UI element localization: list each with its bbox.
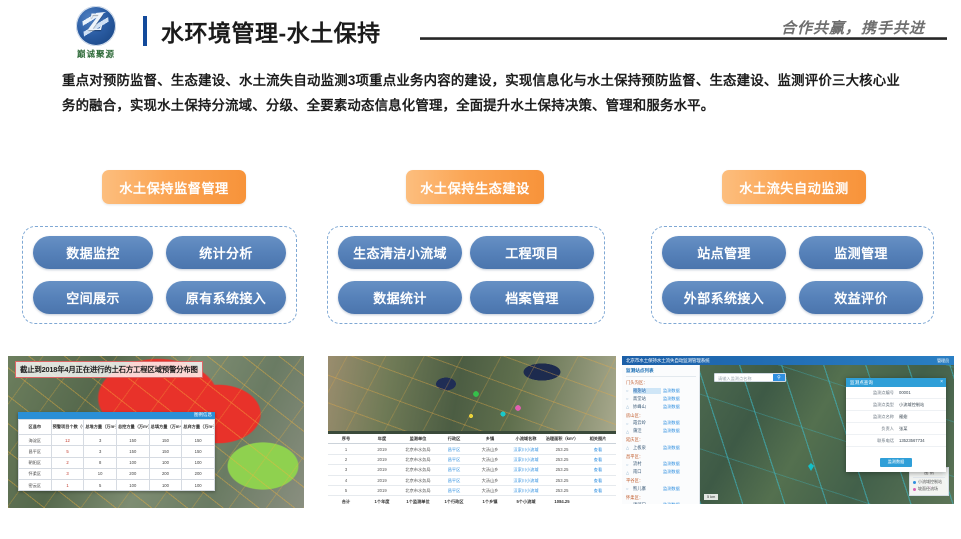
- table-column-header: 区县市: [19, 420, 52, 435]
- station-name[interactable]: 雁翅站: [633, 388, 661, 394]
- table-row: 怀柔区310200200200: [19, 468, 215, 479]
- legend-color-swatch: [913, 488, 916, 491]
- feature-group-supervision: 数据监控 统计分析 空间展示 原有系统接入: [22, 226, 297, 324]
- table-cell: 100: [149, 457, 182, 468]
- table-cell: 2019: [364, 486, 400, 496]
- station-monitoring-data-link[interactable]: 监测数据: [663, 428, 680, 434]
- sidebar-group-label: 房山区：: [626, 413, 696, 419]
- sidebar-station-item[interactable]: △南口监测数据: [626, 469, 696, 475]
- table-column-header: 总弃方量（万m³）: [182, 420, 215, 435]
- table-cell: 200: [182, 468, 215, 479]
- table-cell[interactable]: 昌平区: [436, 444, 472, 454]
- table-row: 12019北京市水务局昌平区大汤山乡汉家川小流域253.25查看: [328, 444, 616, 454]
- table-cell: 北京市水务局: [400, 475, 436, 485]
- legend-label: 小流域控制站: [918, 479, 942, 485]
- station-monitoring-data-link[interactable]: 监测数据: [663, 396, 680, 402]
- table-row: 昌平区53150150150: [19, 446, 215, 457]
- dialog-header: 监测点查询 ×: [846, 378, 946, 387]
- dialog-field-value: 雁翅: [894, 414, 940, 420]
- sidebar-group-label: 怀柔区：: [626, 495, 696, 501]
- table-cell: 5: [84, 480, 117, 491]
- feature-button-statistics[interactable]: 统计分析: [166, 236, 286, 269]
- dialog-field-label: 负责人: [852, 426, 894, 432]
- table-column-header: 总堆方量（万m³）: [84, 420, 117, 435]
- table-cell: 2019: [364, 475, 400, 485]
- table-cell[interactable]: 昌平区: [436, 475, 472, 485]
- table-column-header: 相关图片: [580, 434, 616, 444]
- station-monitoring-data-link[interactable]: 监测数据: [663, 486, 680, 492]
- table-cell: 1084.25: [544, 496, 580, 504]
- station-monitoring-data-link[interactable]: 监测数据: [663, 469, 680, 475]
- table-cell: 1个监测单位: [400, 496, 436, 504]
- table-cell: 朝阳区: [19, 457, 52, 468]
- dialog-monitoring-data-button[interactable]: 监测数据: [880, 458, 913, 467]
- station-name[interactable]: 汤河口: [633, 502, 661, 504]
- station-query-dialog[interactable]: 监测点查询 × 监测点编号00001监测点类型小流域控制站监测点名称雁翅负责人张…: [846, 378, 946, 472]
- feature-group-ecology: 生态清洁小流域 工程项目 数据统计 档案管理: [327, 226, 605, 324]
- table-cell: 1个乡镇: [472, 496, 508, 504]
- table-cell: 大汤山乡: [472, 444, 508, 454]
- screenshot-strip: 截止到2018年4月正在进行的土石方工程区域预警分布图 图例信息 区县市预警项目…: [0, 356, 961, 539]
- station-type-icon: ○: [626, 421, 631, 426]
- table-cell: 253.25: [544, 465, 580, 475]
- station-name[interactable]: 霞云岭: [633, 420, 661, 426]
- table-header-row: 区县市预警项目个数（个）总堆方量（万m³）总挖方量（万m³）总填方量（万m³）总…: [19, 420, 215, 435]
- dialog-field-value: 张某: [894, 426, 940, 432]
- table-cell: 8: [84, 457, 117, 468]
- feature-button-station-management[interactable]: 站点管理: [662, 236, 786, 269]
- dialog-field-label: 监测点名称: [852, 414, 894, 420]
- page-title: 水环境管理-水土保持: [161, 14, 381, 48]
- table-row: 52019北京市水务局昌平区大汤山乡汉家川小流域253.25查看: [328, 486, 616, 496]
- table-total-row: 合计1个年度1个监测单位1个行政区1个乡镇5个小流域1084.25: [328, 496, 616, 504]
- table-cell: 5个小流域: [508, 496, 544, 504]
- station-type-icon: △: [626, 404, 631, 409]
- table-cell: 253.25: [544, 444, 580, 454]
- table-cell: 1个行政区: [436, 496, 472, 504]
- sidebar-station-item[interactable]: ○斋堂站监测数据: [626, 396, 696, 402]
- station-name[interactable]: 流村: [633, 461, 661, 467]
- table-cell: 北京市水务局: [400, 454, 436, 464]
- table-column-header: 监测单位: [400, 434, 436, 444]
- table-cell: 大汤山乡: [472, 486, 508, 496]
- table-cell: 1: [328, 444, 364, 454]
- table-cell: 100: [182, 480, 215, 491]
- table-cell: 100: [116, 480, 149, 491]
- dialog-field-value: 00001: [894, 390, 940, 396]
- station-name[interactable]: 蒲洼: [633, 428, 661, 434]
- warning-statistics-table: 区县市预警项目个数（个）总堆方量（万m³）总挖方量（万m³）总填方量（万m³）总…: [18, 419, 215, 491]
- watershed-list-table: 序号年度监测单位行政区乡镇小流域名称治理面积（km²）相关图片 12019北京市…: [328, 434, 616, 504]
- map-scale-bar: 5 km: [704, 494, 718, 500]
- legend-color-swatch: [913, 481, 916, 484]
- dialog-field-row: 联系电话13523567734: [846, 435, 946, 447]
- feature-button-spatial-display[interactable]: 空间展示: [33, 281, 153, 314]
- legend-label: 坡面径流场: [918, 486, 938, 492]
- feature-button-monitoring-management[interactable]: 监测管理: [799, 236, 923, 269]
- dialog-field-label: 监测点编号: [852, 390, 894, 396]
- panel-title-bar: 图例信息: [18, 412, 215, 419]
- station-name[interactable]: 南口: [633, 469, 661, 475]
- feature-button-data-monitor[interactable]: 数据监控: [33, 236, 153, 269]
- station-monitoring-data-link[interactable]: 监测数据: [663, 388, 680, 394]
- table-cell: 大汤山乡: [472, 454, 508, 464]
- screenshot-earthwork-warning-map: 截止到2018年4月正在进行的土石方工程区域预警分布图 图例信息 区县市预警项目…: [8, 356, 304, 508]
- table-cell: 253.25: [544, 454, 580, 464]
- sidebar-station-item[interactable]: ○熊儿寨监测数据: [626, 486, 696, 492]
- dialog-field-label: 监测点类型: [852, 402, 894, 408]
- watershed-list-panel: 序号年度监测单位行政区乡镇小流域名称治理面积（km²）相关图片 12019北京市…: [328, 434, 616, 504]
- app-title-bar: 北京市水土保持水土流失自动监测管理系统 管理员: [622, 356, 954, 365]
- table-cell: 海淀区: [19, 435, 52, 446]
- category-title-supervision[interactable]: 水土保持监督管理: [102, 170, 246, 204]
- table-cell: 1个年度: [364, 496, 400, 504]
- table-cell: 大汤山乡: [472, 465, 508, 475]
- slide-page: 巅诚聚源 水环境管理-水土保持 合作共赢，携手共进 重点对预防监督、生态建设、水…: [0, 0, 961, 539]
- search-icon[interactable]: ⚲: [773, 374, 785, 381]
- station-name[interactable]: 熊儿寨: [633, 486, 661, 492]
- table-cell[interactable]: 汉家川小流域: [508, 454, 544, 464]
- table-cell[interactable]: 汉家川小流域: [508, 465, 544, 475]
- map-station-marker-icon[interactable]: [808, 463, 814, 471]
- warning-statistics-panel: 图例信息 区县市预警项目个数（个）总堆方量（万m³）总挖方量（万m³）总填方量（…: [18, 412, 215, 491]
- station-name[interactable]: 上板泉: [633, 445, 661, 451]
- gis-application: 北京市水土保持水土流失自动监测管理系统 管理员 监测站点列表 门头沟区：○雁翅站…: [622, 356, 954, 504]
- category-pill-row: 水土保持监督管理 水土保持生态建设 水土流失自动监测: [0, 170, 961, 206]
- sidebar-station-item[interactable]: △汤河口监测数据: [626, 502, 696, 504]
- dialog-field-row: 监测点编号00001: [846, 387, 946, 399]
- table-cell: 北京市水务局: [400, 444, 436, 454]
- feature-button-archive-management[interactable]: 档案管理: [470, 281, 594, 314]
- screenshot-monitoring-gis-app: 北京市水土保持水土流失自动监测管理系统 管理员 监测站点列表 门头沟区：○雁翅站…: [622, 356, 954, 504]
- station-type-icon: ○: [626, 462, 631, 467]
- table-cell: 4: [328, 475, 364, 485]
- sidebar-station-item[interactable]: ○流村监测数据: [626, 461, 696, 467]
- company-logo: 巅诚聚源: [48, 6, 144, 60]
- table-cell[interactable]: 汉家川小流域: [508, 444, 544, 454]
- station-search-input[interactable]: 请输入监测点名称 ⚲: [714, 373, 786, 382]
- table-column-header: 总填方量（万m³）: [149, 420, 182, 435]
- table-cell: 密云区: [19, 480, 52, 491]
- station-type-icon: △: [626, 429, 631, 434]
- table-cell: 2019: [364, 444, 400, 454]
- sidebar-station-item[interactable]: △上板泉监测数据: [626, 445, 696, 451]
- station-name[interactable]: 斋堂站: [633, 396, 661, 402]
- table-cell: 昌平区: [19, 446, 52, 457]
- sidebar-group-label: 门头沟区：: [626, 380, 696, 386]
- table-cell[interactable]: 昌平区: [436, 454, 472, 464]
- table-row: 密云区15100100100: [19, 480, 215, 491]
- table-cell: 3: [328, 465, 364, 475]
- table-cell[interactable]: 查看: [580, 465, 616, 475]
- header-slogan: 合作共赢，携手共进: [781, 17, 925, 38]
- table-cell: 大汤山乡: [472, 475, 508, 485]
- table-cell[interactable]: 查看: [580, 486, 616, 496]
- table-cell: 北京市水务局: [400, 465, 436, 475]
- table-cell: 100: [182, 457, 215, 468]
- table-cell: [580, 496, 616, 504]
- company-logo-z-emblem-icon: [76, 6, 116, 46]
- station-name[interactable]: 妙峰山: [633, 404, 661, 410]
- table-cell: 1: [51, 480, 84, 491]
- table-cell: 2019: [364, 454, 400, 464]
- table-cell: 150: [116, 435, 149, 446]
- feature-group-monitoring: 站点管理 监测管理 外部系统接入 效益评价: [651, 226, 934, 324]
- feature-button-engineering-project[interactable]: 工程项目: [470, 236, 594, 269]
- table-column-header: 序号: [328, 434, 364, 444]
- table-cell: 12: [51, 435, 84, 446]
- table-row: 朝阳区28100100100: [19, 457, 215, 468]
- page-title-bar: 水环境管理-水土保持: [143, 14, 381, 48]
- table-cell[interactable]: 查看: [580, 454, 616, 464]
- table-cell: 100: [149, 480, 182, 491]
- table-column-header: 行政区: [436, 434, 472, 444]
- table-cell[interactable]: 昌平区: [436, 486, 472, 496]
- table-cell[interactable]: 昌平区: [436, 465, 472, 475]
- app-title: 北京市水土保持水土流失自动监测管理系统: [626, 358, 709, 363]
- table-cell: 2: [328, 454, 364, 464]
- title-accent-bar: [143, 16, 147, 46]
- station-monitoring-data-link[interactable]: 监测数据: [663, 461, 680, 467]
- table-cell: 150: [182, 446, 215, 457]
- screenshot-watershed-list: 序号年度监测单位行政区乡镇小流域名称治理面积（km²）相关图片 12019北京市…: [328, 356, 616, 504]
- sidebar-station-item[interactable]: ○霞云岭监测数据: [626, 420, 696, 426]
- gis-map-canvas[interactable]: 请输入监测点名称 ⚲ 监测点查询 × 监测点编号00001监测点类型小流域控制站…: [700, 365, 954, 504]
- table-cell: 2: [51, 457, 84, 468]
- station-monitoring-data-link[interactable]: 监测数据: [663, 420, 680, 426]
- sidebar-group-label: 延庆区：: [626, 437, 696, 443]
- table-row: 海淀区123150150150: [19, 435, 215, 446]
- table-cell[interactable]: 汉家川小流域: [508, 486, 544, 496]
- sidebar-title: 监测站点列表: [626, 368, 696, 377]
- table-cell: 2019: [364, 465, 400, 475]
- station-type-icon: △: [626, 470, 631, 475]
- table-row: 32019北京市水务局昌平区大汤山乡汉家川小流域253.25查看: [328, 465, 616, 475]
- table-cell: 100: [116, 457, 149, 468]
- table-header-row: 序号年度监测单位行政区乡镇小流域名称治理面积（km²）相关图片: [328, 434, 616, 444]
- company-logo-text: 巅诚聚源: [77, 48, 115, 60]
- table-cell: 3: [51, 468, 84, 479]
- legend-item: 坡面径流场: [913, 486, 945, 492]
- satellite-watershed-map: [328, 356, 616, 431]
- warning-map-title: 截止到2018年4月正在进行的土石方工程区域预警分布图: [15, 361, 203, 378]
- table-cell: 200: [116, 468, 149, 479]
- table-cell: 北京市水务局: [400, 486, 436, 496]
- table-cell: 150: [149, 446, 182, 457]
- station-type-icon: ○: [626, 388, 631, 393]
- close-icon[interactable]: ×: [940, 379, 943, 385]
- dialog-field-label: 联系电话: [852, 438, 894, 444]
- table-cell: 150: [149, 435, 182, 446]
- table-cell: 3: [84, 446, 117, 457]
- table-column-header: 总挖方量（万m³）: [116, 420, 149, 435]
- table-cell: 200: [149, 468, 182, 479]
- feature-button-data-statistics[interactable]: 数据统计: [338, 281, 462, 314]
- legend-item: 小流域控制站: [913, 479, 945, 485]
- station-sidebar[interactable]: 监测站点列表 门头沟区：○雁翅站监测数据○斋堂站监测数据△妙峰山监测数据房山区：…: [622, 365, 700, 504]
- panel-legend-label: 图例信息: [194, 412, 212, 418]
- table-row: 42019北京市水务局昌平区大汤山乡汉家川小流域253.25查看: [328, 475, 616, 485]
- table-cell: 3: [84, 435, 117, 446]
- table-column-header: 治理面积（km²）: [544, 434, 580, 444]
- table-cell: 怀柔区: [19, 468, 52, 479]
- station-monitoring-data-link[interactable]: 监测数据: [663, 445, 680, 451]
- feature-button-benefit-evaluation[interactable]: 效益评价: [799, 281, 923, 314]
- dialog-footer: 监测数据: [846, 447, 946, 472]
- station-type-icon: △: [626, 445, 631, 450]
- slide-header: 巅诚聚源 水环境管理-水土保持 合作共赢，携手共进: [0, 0, 961, 62]
- station-monitoring-data-link[interactable]: 监测数据: [663, 502, 680, 504]
- dialog-field-row: 负责人张某: [846, 423, 946, 435]
- table-cell: 10: [84, 468, 117, 479]
- table-cell: 253.25: [544, 486, 580, 496]
- feature-button-legacy-system-access[interactable]: 原有系统接入: [166, 281, 286, 314]
- dialog-field-row: 监测点名称雁翅: [846, 411, 946, 423]
- sidebar-group-label: 昌平区：: [626, 454, 696, 460]
- table-cell[interactable]: 查看: [580, 444, 616, 454]
- feature-button-clean-small-watershed[interactable]: 生态清洁小流域: [338, 236, 462, 269]
- category-title-monitoring[interactable]: 水土流失自动监测: [722, 170, 866, 204]
- sidebar-station-item[interactable]: ○雁翅站监测数据: [626, 388, 696, 394]
- table-cell: 5: [51, 446, 84, 457]
- table-cell: 253.25: [544, 475, 580, 485]
- table-cell: 5: [328, 486, 364, 496]
- table-column-header: 年度: [364, 434, 400, 444]
- table-cell[interactable]: 汉家川小流域: [508, 475, 544, 485]
- feature-button-external-system-access[interactable]: 外部系统接入: [662, 281, 786, 314]
- app-user-label: 管理员: [937, 358, 949, 364]
- table-cell[interactable]: 查看: [580, 475, 616, 485]
- station-search-placeholder: 请输入监测点名称: [718, 376, 752, 381]
- table-cell: 150: [116, 446, 149, 457]
- station-type-icon: ○: [626, 486, 631, 491]
- dialog-field-value: 小流域控制站: [894, 402, 940, 408]
- table-cell: 合计: [328, 496, 364, 504]
- table-column-header: 乡镇: [472, 434, 508, 444]
- sidebar-group-label: 平谷区：: [626, 478, 696, 484]
- category-title-ecology[interactable]: 水土保持生态建设: [406, 170, 544, 204]
- intro-paragraph: 重点对预防监督、生态建设、水土流失自动监测3项重点业务内容的建设，实现信息化与水…: [62, 68, 900, 118]
- table-column-header: 预警项目个数（个）: [51, 420, 84, 435]
- dialog-field-row: 监测点类型小流域控制站: [846, 399, 946, 411]
- station-type-icon: △: [626, 503, 631, 505]
- sidebar-station-item[interactable]: △蒲洼监测数据: [626, 428, 696, 434]
- station-type-icon: ○: [626, 396, 631, 401]
- dialog-field-value: 13523567734: [894, 438, 940, 444]
- table-row: 22019北京市水务局昌平区大汤山乡汉家川小流域253.25查看: [328, 454, 616, 464]
- sidebar-station-item[interactable]: △妙峰山监测数据: [626, 404, 696, 410]
- table-column-header: 小流域名称: [508, 434, 544, 444]
- table-cell: 150: [182, 435, 215, 446]
- dialog-title: 监测点查询: [850, 380, 873, 385]
- station-monitoring-data-link[interactable]: 监测数据: [663, 404, 680, 410]
